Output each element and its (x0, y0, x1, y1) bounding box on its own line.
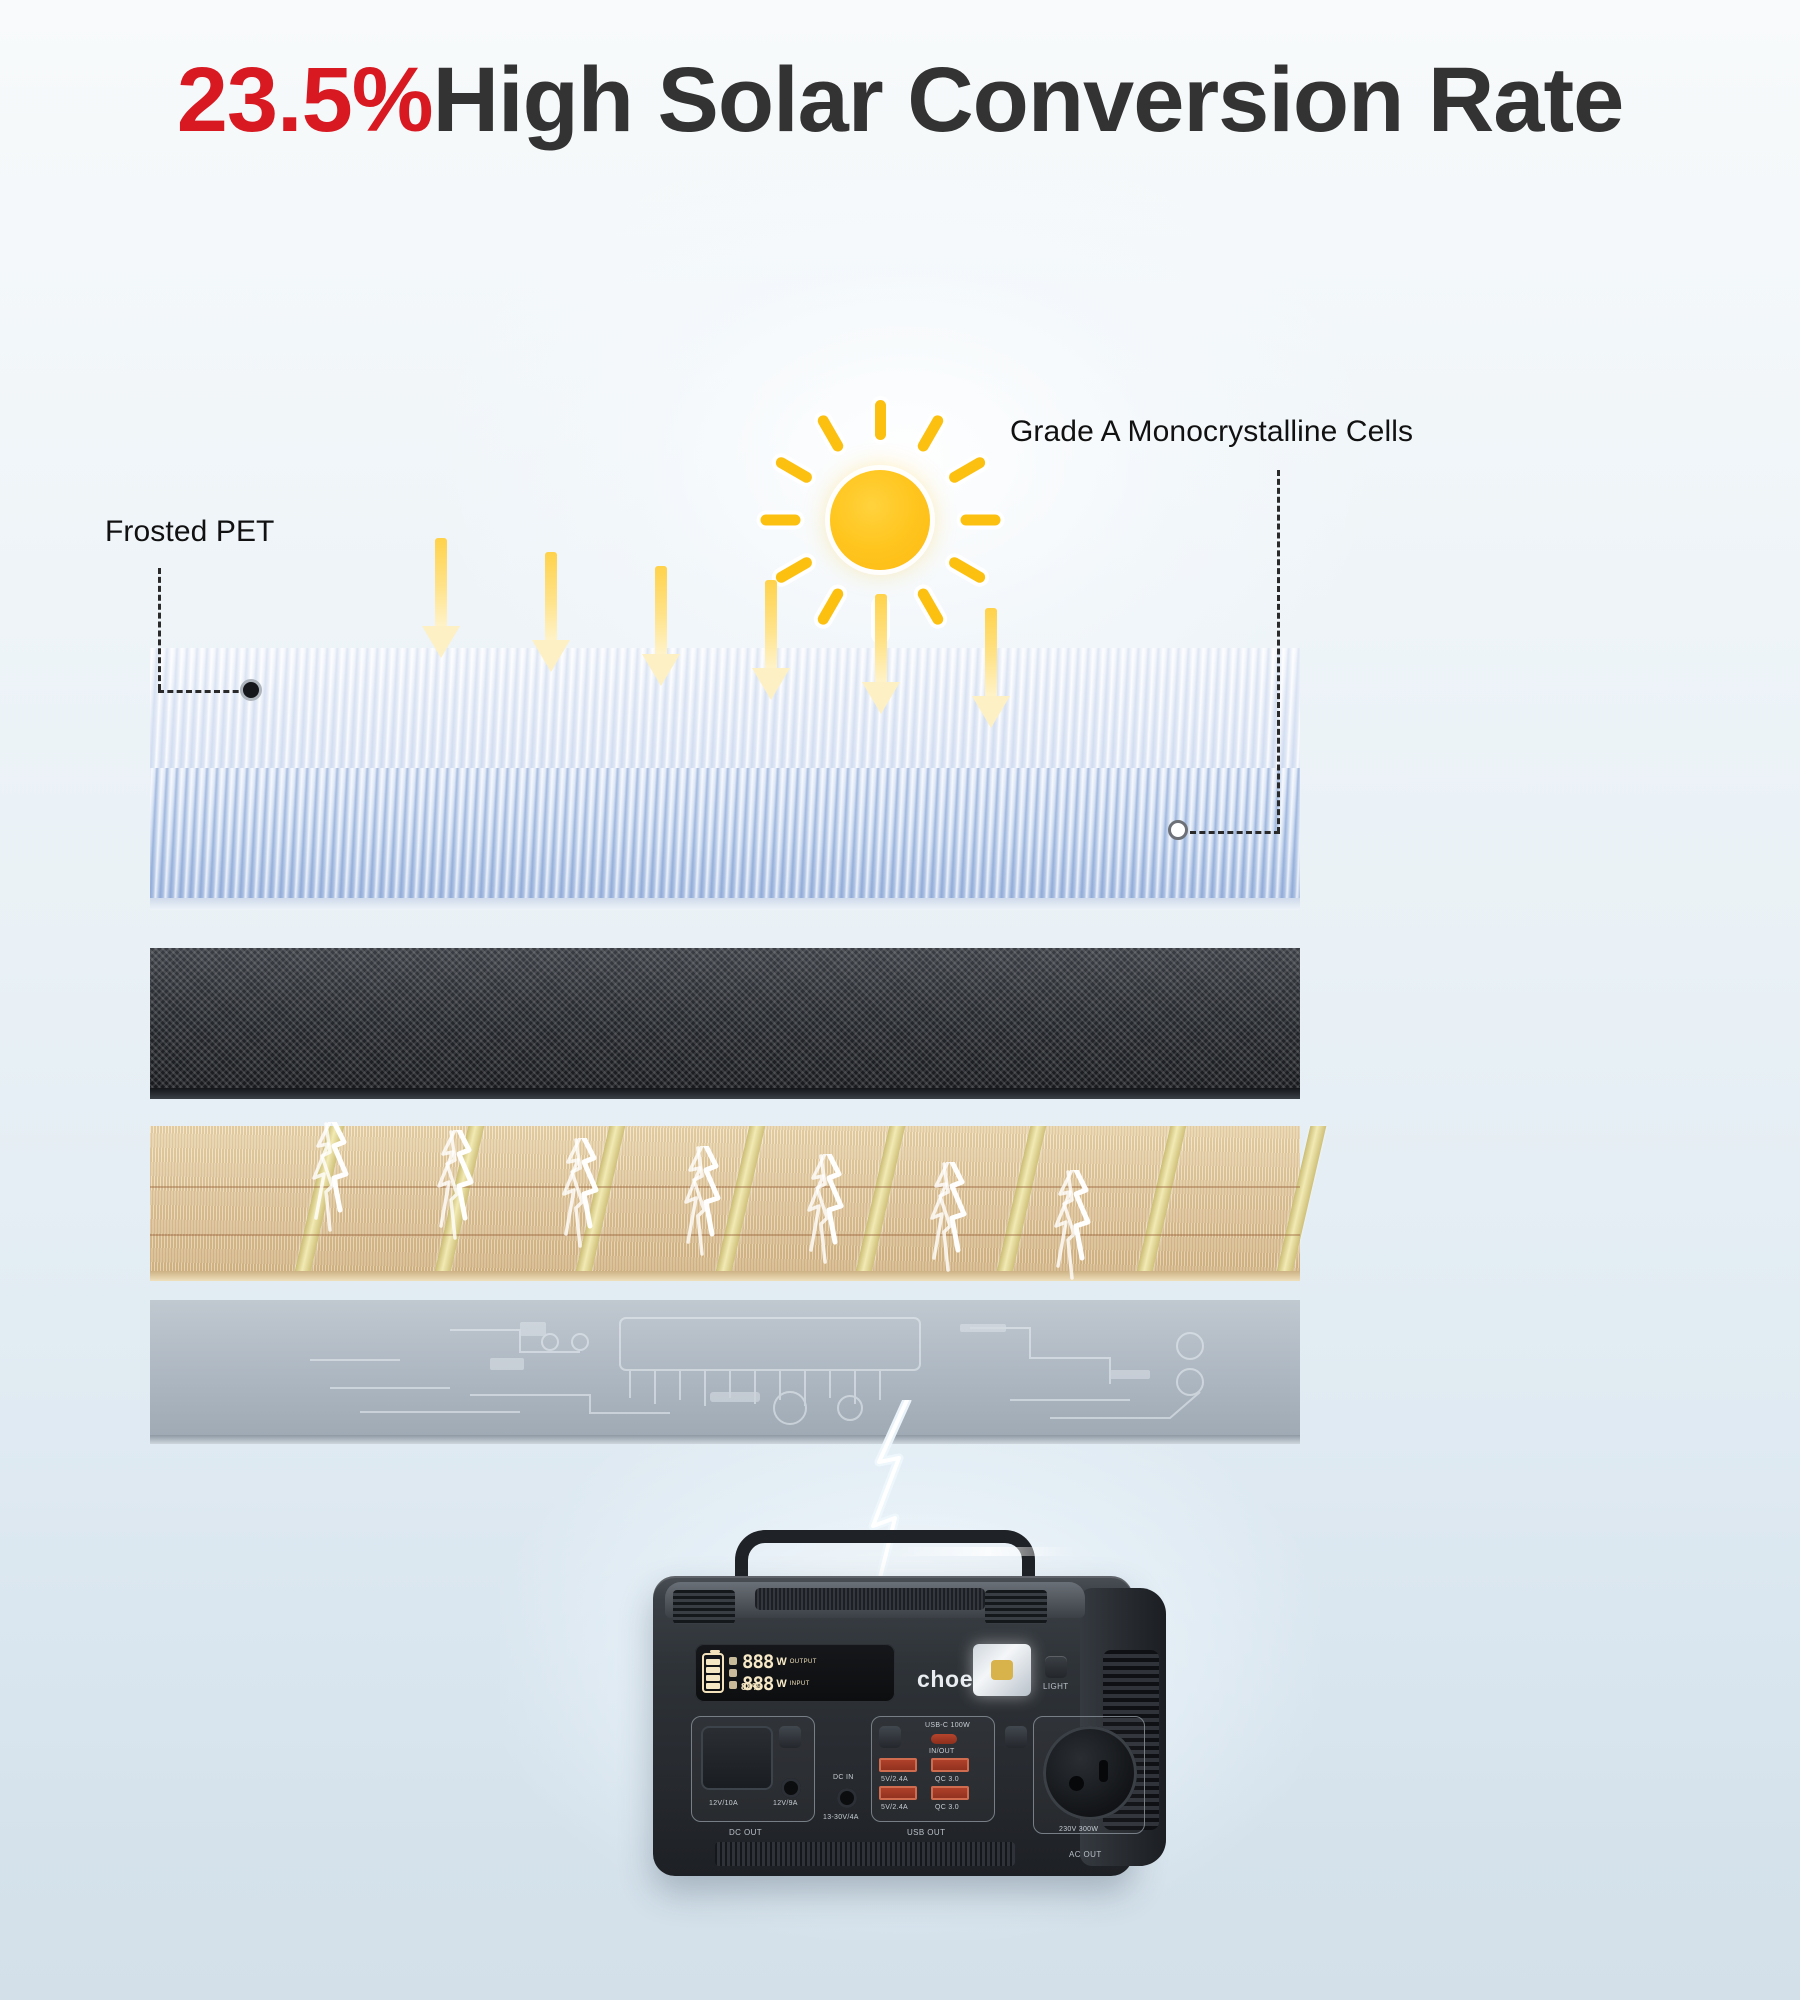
portable-power-station: 888 W OUTPUT 888 W INPUT 88% choetech LI… (625, 1530, 1185, 1890)
dc-in-barrel-jack[interactable] (837, 1788, 857, 1808)
sun-ray (947, 455, 987, 485)
lightning-bolt-icon (795, 1154, 855, 1274)
ac-socket[interactable] (1043, 1726, 1137, 1820)
frosted-pet-layer-bottom (150, 768, 1300, 903)
usb-a-label-3: QC 3.0 (935, 1776, 959, 1783)
usb-c-port[interactable] (931, 1734, 957, 1744)
usb-a-port-3[interactable] (931, 1758, 969, 1772)
busbar-strip (294, 1126, 345, 1276)
usb-a-port-4[interactable] (931, 1786, 969, 1800)
callout-dot-mono-cells (1168, 820, 1188, 840)
dc-out-button[interactable] (779, 1726, 801, 1748)
frosted-pet-layer-top (150, 648, 1300, 768)
sun-ray (773, 455, 813, 485)
usb-a-port-1[interactable] (879, 1758, 917, 1772)
input-tag: INPUT (790, 1681, 810, 1687)
lcd-status-icons (729, 1657, 737, 1689)
callout-leader-right-vertical (1277, 470, 1280, 833)
output-readout: 888 W OUTPUT (742, 1653, 888, 1672)
lightning-bolt-icon (425, 1130, 485, 1250)
top-vent-right (985, 1590, 1047, 1624)
busbar-seam (150, 1234, 1300, 1236)
top-vent-left (673, 1590, 735, 1624)
frosted-pet-layer-edge (150, 898, 1300, 910)
busbar-conductive-layer-edge (150, 1271, 1300, 1281)
monocrystalline-cell-layer (150, 948, 1300, 1093)
sun-ray (875, 400, 886, 440)
dc-status-icon (729, 1669, 737, 1677)
input-unit: W (776, 1678, 786, 1690)
usb-a-label-1: 5V/2.4A (881, 1776, 908, 1783)
pcb-circuit-layer-edge (150, 1435, 1300, 1444)
lightning-bolt-icon (672, 1146, 732, 1266)
usb-a-label-2: 5V/2.4A (881, 1804, 908, 1811)
busbar-conductive-layer (150, 1126, 1300, 1276)
sunlight-arrow-icon (545, 552, 557, 642)
callout-label-frosted-pet: Frosted PET (105, 515, 274, 549)
pcb-traces-icon (150, 1300, 1300, 1440)
lightning-bolt-icon (550, 1138, 610, 1258)
conversion-rate-value: 23.5% (177, 49, 433, 151)
dc-out-barrel-jack[interactable] (781, 1778, 801, 1798)
lcd-display: 888 W OUTPUT 888 W INPUT 88% (695, 1644, 895, 1702)
pcb-circuit-layer (150, 1300, 1300, 1440)
callout-leader-left-horizontal (158, 690, 248, 693)
busbar-seam (150, 1186, 1300, 1188)
output-unit: W (776, 1656, 786, 1668)
car-socket-12v[interactable] (701, 1726, 773, 1790)
busbar-strip (1135, 1126, 1186, 1276)
dc-out-barrel-label: 12V/9A (773, 1800, 798, 1807)
sun-ray (915, 413, 945, 453)
usb-a-port-2[interactable] (879, 1786, 917, 1800)
page-title: 23.5%High Solar Conversion Rate (0, 52, 1800, 149)
busbar-strip (855, 1126, 906, 1276)
bottom-vent-grille (715, 1842, 1015, 1866)
sun-core (830, 470, 930, 570)
sun-ray (773, 555, 813, 585)
busbar-strip (715, 1126, 766, 1276)
busbar-strip (574, 1126, 625, 1276)
sun-icon (760, 400, 1000, 640)
battery-level-icon (702, 1653, 724, 1693)
input-readout: 888 W INPUT (742, 1675, 888, 1694)
sun-ray (815, 413, 845, 453)
lightning-bolt-icon (918, 1162, 978, 1282)
busbar-strip (995, 1126, 1046, 1276)
sun-ray (815, 587, 845, 627)
ac-out-button[interactable] (1005, 1726, 1027, 1748)
usb-c-sub-label: IN/OUT (929, 1748, 955, 1755)
sun-ray (760, 515, 800, 526)
usb-a-label-4: QC 3.0 (935, 1804, 959, 1811)
dc-in-group-label: DC IN (833, 1774, 854, 1781)
light-button[interactable] (1045, 1656, 1067, 1678)
dc-in-spec-label: 13-30V/4A (823, 1814, 859, 1821)
top-vent-grille (755, 1588, 985, 1610)
sunlight-arrow-icon (655, 566, 667, 656)
ac-out-spec-label: 230V 300W (1059, 1826, 1098, 1833)
callout-leader-right-horizontal (1190, 831, 1280, 834)
callout-leader-left-vertical (158, 568, 161, 690)
ac-out-group-label: AC OUT (1069, 1850, 1102, 1859)
sun-ray (875, 600, 886, 640)
monocrystalline-cell-layer-edge (150, 1088, 1300, 1099)
sun-ray (960, 515, 1000, 526)
usb-out-button[interactable] (879, 1726, 901, 1748)
output-value: 888 (742, 1653, 773, 1672)
page-title-text: High Solar Conversion Rate (433, 49, 1624, 151)
battery-percent: 88% (741, 1682, 761, 1693)
callout-label-mono-cells: Grade A Monocrystalline Cells (1010, 415, 1413, 449)
lightning-bolt-icon (1042, 1170, 1102, 1290)
usb-c-label: USB-C 100W (925, 1722, 970, 1729)
usb-status-icon (729, 1681, 737, 1689)
lightning-bolt-icon (300, 1122, 360, 1242)
led-flashlight (973, 1644, 1031, 1696)
sun-ray (915, 587, 945, 627)
busbar-strip (434, 1126, 485, 1276)
ac-status-icon (729, 1657, 737, 1665)
usb-out-group-label: USB OUT (907, 1828, 945, 1837)
light-button-label: LIGHT (1043, 1682, 1069, 1691)
dc-out-group-label: DC OUT (729, 1828, 762, 1837)
sunlight-arrow-icon (435, 538, 447, 628)
output-tag: OUTPUT (790, 1659, 817, 1665)
busbar-strip (1276, 1126, 1327, 1276)
car-socket-label: 12V/10A (709, 1800, 738, 1807)
sun-ray (947, 555, 987, 585)
callout-dot-frosted-pet (240, 679, 262, 701)
